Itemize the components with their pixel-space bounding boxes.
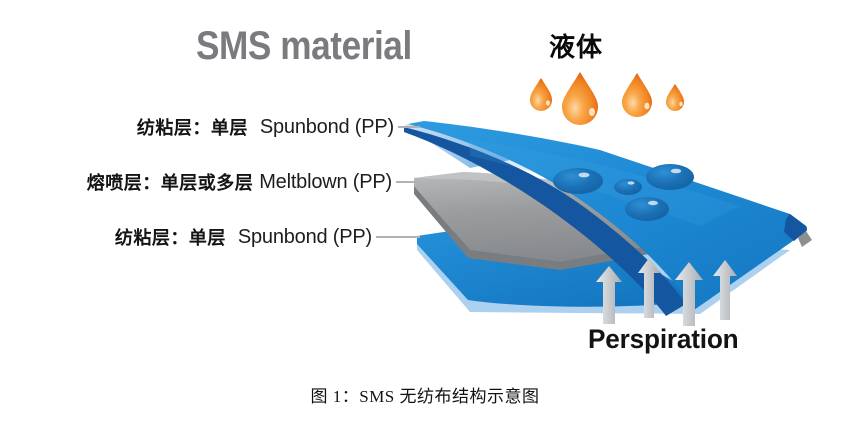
leader-line-top	[398, 126, 420, 128]
droplet-large	[562, 72, 598, 125]
layer-label-cn-top: 纺粘层：单层	[137, 114, 248, 140]
perspiration-label: Perspiration	[588, 326, 739, 353]
liquid-droplet-group	[530, 72, 684, 125]
perspiration-arrow-4	[713, 260, 737, 320]
page-title: SMS material	[196, 26, 412, 66]
leader-line-mid	[396, 181, 420, 183]
perspiration-arrow-group	[596, 258, 737, 326]
leader-line-bottom	[376, 236, 420, 238]
layer-top-spunbond	[404, 121, 812, 316]
layer-label-cn-mid: 熔喷层：单层或多层	[87, 169, 254, 195]
droplet-medium	[622, 73, 652, 117]
sms-structure-illustration	[0, 0, 850, 428]
perspiration-arrow-1	[596, 266, 622, 324]
layer-label-en-bottom: Spunbond (PP)	[238, 226, 372, 249]
perspiration-arrow-2	[638, 258, 660, 318]
droplet-tiny-right	[666, 84, 684, 111]
layer-label-cn-bottom: 纺粘层：单层	[115, 224, 226, 250]
bead-lower	[625, 197, 669, 221]
bead-upper-left	[553, 168, 603, 194]
perspiration-arrow-3	[675, 262, 703, 326]
liquid-label: 液体	[549, 34, 603, 60]
layer-label-row-top-spunbond: 纺粘层：单层 Spunbond (PP)	[0, 112, 420, 142]
layer-label-en-mid: Meltblown (PP)	[259, 171, 392, 194]
layer-label-row-meltblown: 熔喷层：单层或多层 Meltblown (PP)	[0, 167, 420, 197]
water-bead-group	[553, 164, 694, 221]
bead-upper-right	[646, 164, 694, 190]
droplet-small-left	[530, 78, 552, 111]
figure-canvas: SMS material 纺粘层：单层 Spunbond (PP) 熔喷层：单层…	[0, 0, 850, 428]
layer-middle-meltblown	[414, 172, 794, 270]
figure-caption: 图 1：SMS 无纺布结构示意图	[0, 382, 850, 407]
layer-label-en-top: Spunbond (PP)	[260, 116, 394, 139]
layer-label-row-bottom-spunbond: 纺粘层：单层 Spunbond (PP)	[0, 222, 420, 252]
bead-center	[614, 179, 642, 195]
